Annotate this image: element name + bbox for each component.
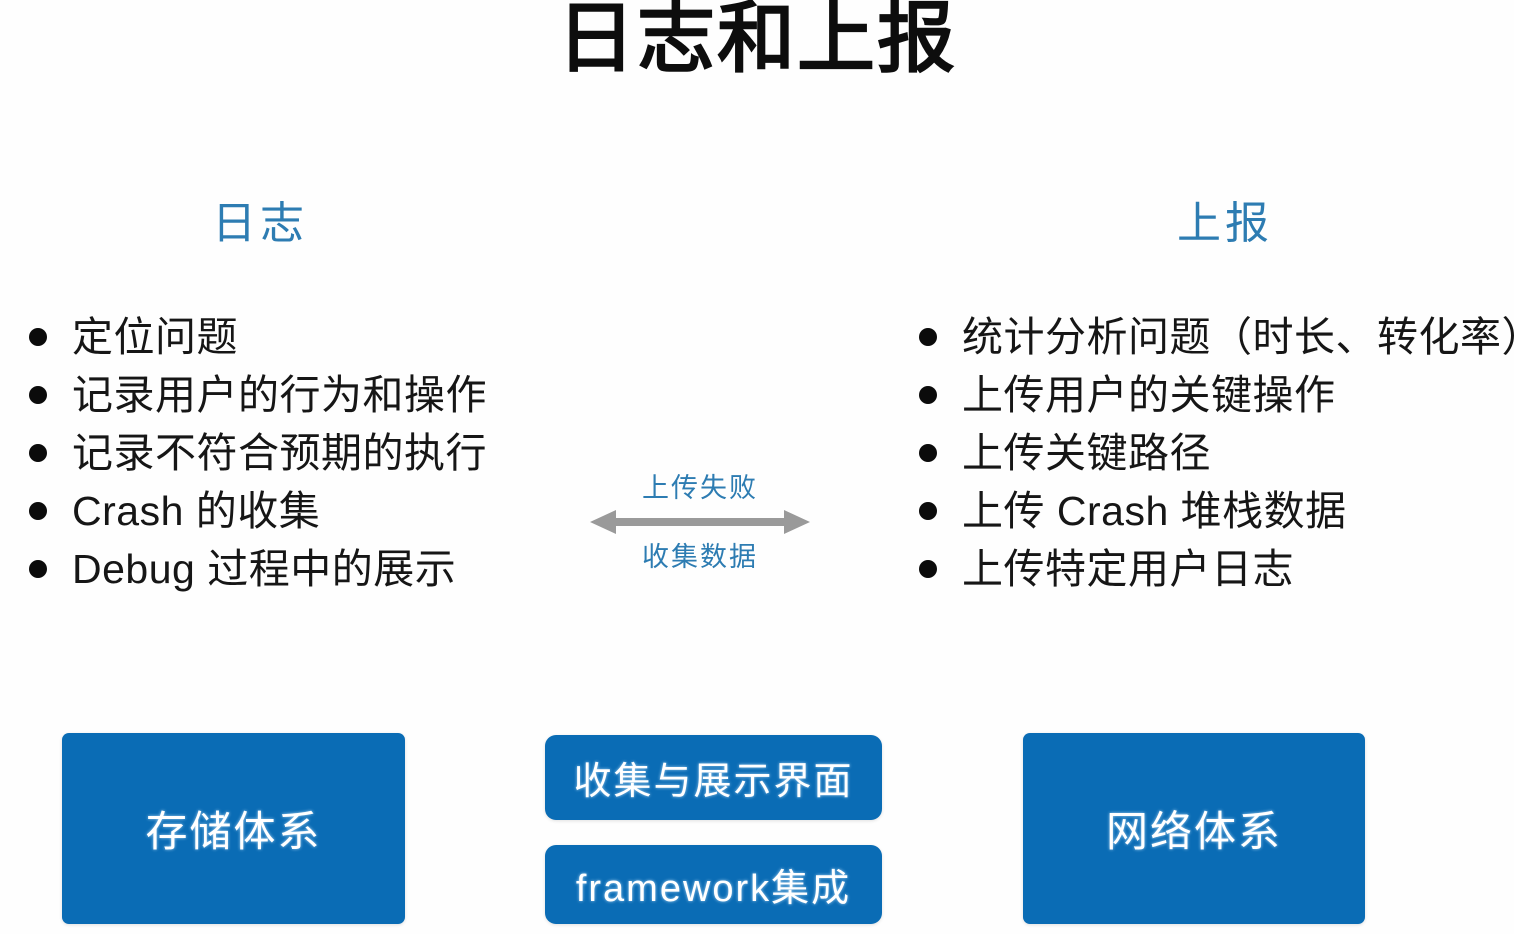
list-item-label: 记录不符合预期的执行 [72,430,487,476]
bullet-dot-icon [29,502,47,520]
storage-system-box[interactable]: 存储体系 [62,733,405,924]
list-item: 记录用户的行为和操作 [24,366,564,424]
list-item: 上传 Crash 堆栈数据 [914,482,1514,540]
list-item: 上传用户的关键操作 [914,366,1514,424]
list-item: 定位问题 [24,308,564,366]
bullet-dot-icon [919,502,937,520]
relation-bottom-label: 收集数据 [570,537,830,577]
framework-integration-box[interactable]: framework集成 [545,845,882,924]
double-headed-horizontal-arrow-icon [590,509,810,535]
list-item: Crash 的收集 [24,482,564,540]
list-item: Debug 过程中的展示 [24,540,564,598]
right-column-heading: 上报 [1115,202,1335,246]
collection-and-display-ui-box[interactable]: 收集与展示界面 [545,735,882,820]
bullet-dot-icon [29,386,47,404]
page-title: 日志和上报 [0,0,1514,80]
list-item: 上传特定用户日志 [914,540,1514,598]
list-item: 记录不符合预期的执行 [24,424,564,482]
relation-top-label: 上传失败 [570,468,830,508]
left-column-heading: 日志 [150,202,370,246]
list-item-label: 上传用户的关键操作 [962,372,1336,418]
list-item-label: Crash 的收集 [72,488,320,534]
list-item-label: 上传关键路径 [962,430,1211,476]
bullet-dot-icon [919,386,937,404]
list-item-label: Debug 过程中的展示 [72,546,456,592]
slide-canvas: 日志和上报 日志 定位问题 记录用户的行为和操作 记录不符合预期的执行 Cras… [0,0,1514,934]
list-item-label: 定位问题 [72,314,238,360]
bullet-dot-icon [919,444,937,462]
list-item-label: 统计分析问题（时长、转化率） [962,314,1514,360]
left-bullet-list: 定位问题 记录用户的行为和操作 记录不符合预期的执行 Crash 的收集 Deb… [24,308,564,598]
bullet-dot-icon [29,328,47,346]
bullet-dot-icon [29,560,47,578]
network-system-box[interactable]: 网络体系 [1023,733,1365,924]
list-item-label: 上传特定用户日志 [962,546,1294,592]
list-item-label: 上传 Crash 堆栈数据 [962,488,1347,534]
relation-group: 上传失败 收集数据 [570,468,830,577]
right-bullet-list: 统计分析问题（时长、转化率） 上传用户的关键操作 上传关键路径 上传 Crash… [914,308,1514,598]
list-item: 上传关键路径 [914,424,1514,482]
list-item-label: 记录用户的行为和操作 [72,372,487,418]
list-item: 统计分析问题（时长、转化率） [914,308,1514,366]
bullet-dot-icon [919,328,937,346]
bullet-dot-icon [29,444,47,462]
bullet-dot-icon [919,560,937,578]
